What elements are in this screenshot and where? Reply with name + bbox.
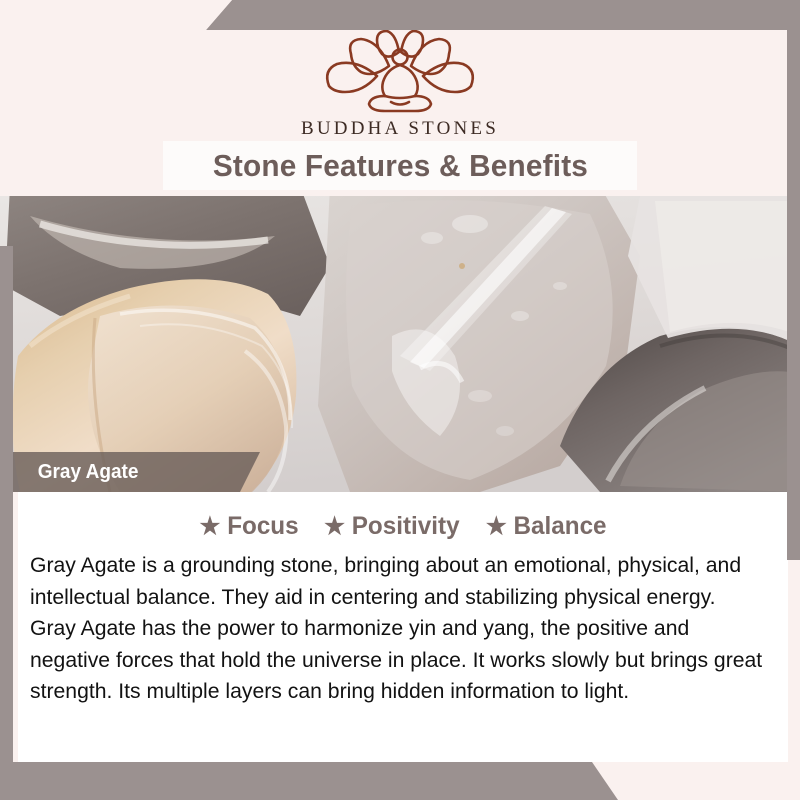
stone-name-label: Gray Agate	[0, 452, 260, 492]
stone-photo: Gray Agate	[0, 196, 800, 492]
frame-corner-bottom-left	[0, 762, 800, 800]
feature-label: Positivity	[352, 512, 460, 541]
star-icon: ★	[324, 515, 345, 539]
feature-item-focus: ★ Focus	[199, 512, 298, 541]
brand-name: BUDDHA STONES	[0, 118, 800, 140]
star-icon: ★	[486, 515, 507, 539]
stone-description: Gray Agate is a grounding stone, bringin…	[30, 550, 765, 708]
section-title-banner: Stone Features & Benefits	[163, 141, 637, 190]
brand-logo: BUDDHA STONES	[0, 26, 800, 140]
page-title: Stone Features & Benefits	[212, 148, 587, 184]
feature-list: ★ Focus ★ Positivity ★ Balance	[18, 492, 788, 541]
stone-name-text: Gray Agate	[4, 461, 139, 484]
stone-info-card: Gray Agate	[0, 0, 800, 800]
frame-edge-left	[0, 246, 13, 800]
feature-label: Balance	[513, 512, 606, 541]
feature-label: Focus	[227, 512, 298, 541]
star-icon: ★	[199, 515, 220, 539]
feature-item-balance: ★ Balance	[486, 512, 607, 541]
feature-item-positivity: ★ Positivity	[324, 512, 459, 541]
content-panel: ★ Focus ★ Positivity ★ Balance Gray Agat…	[18, 492, 788, 762]
lotus-meditation-figure-icon	[315, 26, 485, 114]
frame-edge-right	[787, 0, 800, 560]
